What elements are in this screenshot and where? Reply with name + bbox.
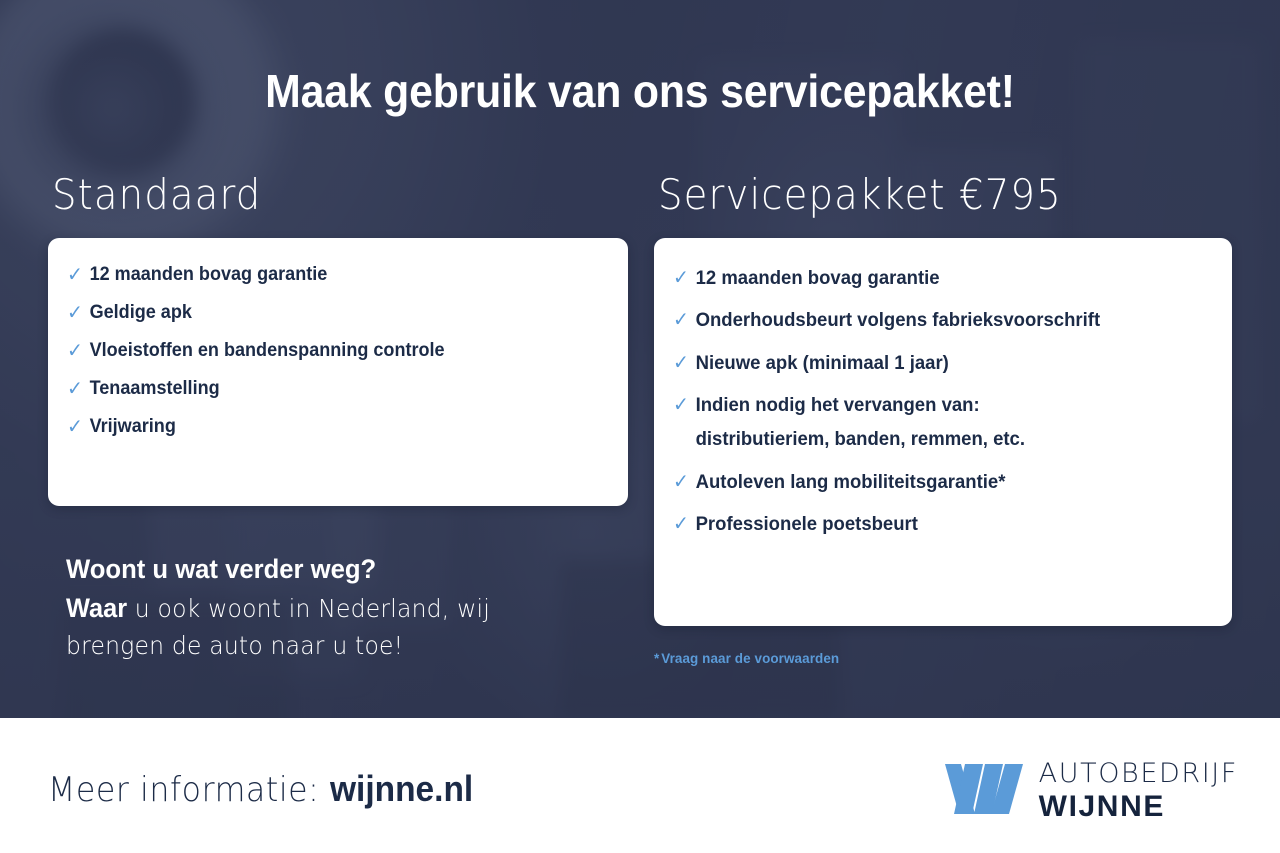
promo-bold-lead: Waar [66,593,127,623]
list-item: ✓ Nieuwe apk (minimaal 1 jaar) [654,350,1203,376]
list-item: ✓ Autoleven lang mobiliteitsgarantie* [654,469,1203,495]
check-icon: ✓ [673,307,689,333]
promo-body: Waar u ook woont in Nederland, wij breng… [66,589,574,664]
promo-poster: Maak gebruik van ons servicepakket! Stan… [0,0,1280,853]
list-item: ✓ Onderhoudsbeurt volgens fabrieksvoorsc… [654,307,1203,333]
list-item: ✓ Vloeistoffen en bandenspanning control… [48,338,599,364]
page-title: Maak gebruik van ons servicepakket! [45,64,1235,118]
check-icon: ✓ [673,265,689,291]
feature-list-standaard: ✓ 12 maanden bovag garantie ✓ Geldige ap… [48,238,628,440]
list-item: ✓ 12 maanden bovag garantie [48,262,599,288]
list-item-label: Indien nodig het vervangen van: [696,392,1025,418]
list-item-label: Vloeistoffen en bandenspanning controle [90,338,445,364]
list-item-label: Professionele poetsbeurt [696,511,918,537]
wijnne-chevron-logo-icon [945,764,1023,819]
check-icon: ✓ [673,469,689,495]
footnote: *Vraag naar de voorwaarden [654,650,839,666]
footnote-asterisk: * [654,650,659,666]
check-icon: ✓ [67,414,83,440]
column-title-servicepakket: Servicepakket €795 [658,170,1062,219]
logo-line-wijnne: WIJNNE [1039,792,1238,822]
brand-logo[interactable]: AUTOBEDRIJF WIJNNE [945,760,1238,822]
list-item: ✓ Tenaamstelling [48,376,599,402]
logo-line-autobedrijf: AUTOBEDRIJF [1039,760,1238,787]
check-icon: ✓ [67,300,83,326]
list-item: ✓ Vrijwaring [48,414,599,440]
list-item-label: Vrijwaring [90,414,176,440]
list-item-label: Onderhoudsbeurt volgens fabrieksvoorschr… [696,307,1101,333]
delivery-promo: Woont u wat verder weg? Waar u ook woont… [66,550,606,665]
check-icon: ✓ [67,262,83,288]
promo-heading: Woont u wat verder weg? [66,550,579,589]
list-item-block: Indien nodig het vervangen van: distribu… [696,392,1025,453]
check-icon: ✓ [67,376,83,402]
website-url[interactable]: wijnne.nl [330,768,473,809]
list-item-label: 12 maanden bovag garantie [696,265,940,291]
column-title-standaard: Standaard [52,170,261,219]
check-icon: ✓ [67,338,83,364]
list-item-sublabel: distributieriem, banden, remmen, etc. [696,426,1025,452]
list-item-label: Geldige apk [90,300,192,326]
logo-wordmark: AUTOBEDRIJF WIJNNE [1039,760,1238,822]
more-info-label: Meer informatie: [48,770,330,810]
list-item-label: 12 maanden bovag garantie [90,262,328,288]
check-icon: ✓ [673,511,689,537]
list-item: ✓ Geldige apk [48,300,599,326]
check-icon: ✓ [673,392,689,418]
list-item: ✓ 12 maanden bovag garantie [654,265,1203,291]
footnote-text: Vraag naar de voorwaarden [661,650,839,666]
card-standaard: ✓ 12 maanden bovag garantie ✓ Geldige ap… [48,238,628,506]
list-item-label: Autoleven lang mobiliteitsgarantie* [696,469,1006,495]
footer-bar: Meer informatie: wijnne.nl AUTOBEDRIJF W… [0,718,1280,853]
list-item-label: Nieuwe apk (minimaal 1 jaar) [696,350,949,376]
feature-list-servicepakket: ✓ 12 maanden bovag garantie ✓ Onderhouds… [654,238,1232,537]
list-item: ✓ Indien nodig het vervangen van: distri… [654,392,1203,453]
more-info-line: Meer informatie: wijnne.nl [48,768,473,810]
promo-body-text: u ook woont in Nederland, wij brengen de… [66,594,490,660]
list-item-label: Tenaamstelling [90,376,220,402]
list-item: ✓ Professionele poetsbeurt [654,511,1203,537]
card-servicepakket: ✓ 12 maanden bovag garantie ✓ Onderhouds… [654,238,1232,626]
check-icon: ✓ [673,350,689,376]
poster-content: Maak gebruik van ons servicepakket! Stan… [0,0,1280,718]
